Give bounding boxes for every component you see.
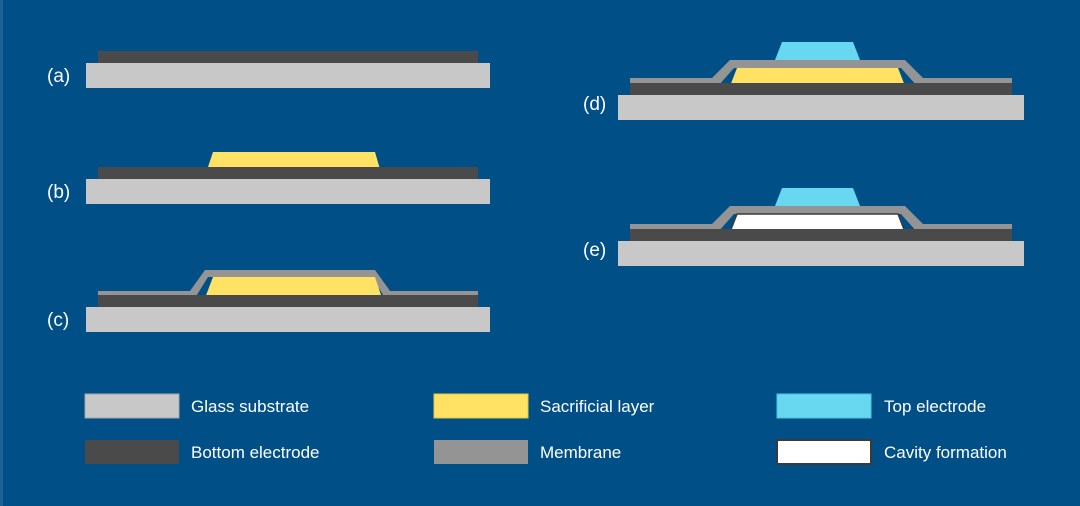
panel-a-bottom-electrode (98, 51, 478, 63)
panel-d-top-electrode (775, 42, 860, 60)
panel-c-sacrificial-layer (205, 277, 382, 298)
legend-swatch-top-electrode (777, 394, 871, 418)
legend-label-sacrificial-layer: Sacrificial layer (540, 397, 655, 416)
panel-b-label: (b) (47, 182, 70, 203)
panel-e-top-electrode (775, 188, 860, 206)
legend-swatch-glass-substrate (85, 394, 179, 418)
legend-item-top-electrode: Top electrode (777, 394, 986, 418)
legend-swatch-sacrificial-layer (434, 394, 528, 418)
legend-label-cavity-formation: Cavity formation (884, 443, 1007, 462)
panel-d: (d) (583, 42, 1024, 120)
panel-a-glass-substrate (86, 63, 490, 88)
panel-b-glass-substrate (86, 179, 490, 204)
panel-c: (c) (47, 270, 490, 332)
process-flow-diagram: (a) (b) (c) (d) (0, 0, 1080, 506)
legend-label-bottom-electrode: Bottom electrode (191, 443, 320, 462)
legend-swatch-membrane (434, 440, 528, 464)
legend-item-bottom-electrode: Bottom electrode (85, 440, 320, 464)
panel-d-label: (d) (583, 94, 606, 115)
panel-a-label: (a) (47, 66, 70, 87)
panel-c-label: (c) (47, 310, 69, 331)
legend-item-cavity-formation: Cavity formation (777, 440, 1007, 464)
legend-item-membrane: Membrane (434, 440, 621, 464)
panel-e-glass-substrate (618, 241, 1024, 266)
legend-swatch-cavity-formation (777, 440, 871, 464)
panel-e-label: (e) (583, 240, 606, 261)
legend-label-top-electrode: Top electrode (884, 397, 986, 416)
panel-b: (b) (47, 152, 490, 204)
panel-e-bottom-electrode (630, 229, 1012, 241)
legend-item-sacrificial-layer: Sacrificial layer (434, 394, 655, 418)
panel-d-glass-substrate (618, 95, 1024, 120)
panel-d-bottom-electrode (630, 83, 1012, 95)
panel-e: (e) (583, 188, 1024, 266)
legend: Glass substrate Bottom electrode Sacrifi… (85, 394, 1007, 464)
legend-label-membrane: Membrane (540, 443, 621, 462)
legend-swatch-bottom-electrode (85, 440, 179, 464)
legend-label-glass-substrate: Glass substrate (191, 397, 309, 416)
figure-root: (a) (b) (c) (d) (0, 0, 1080, 506)
panel-c-glass-substrate (86, 307, 490, 332)
panel-c-bottom-electrode (98, 295, 478, 307)
legend-item-glass-substrate: Glass substrate (85, 394, 309, 418)
panel-b-bottom-electrode (98, 167, 478, 179)
panel-a: (a) (47, 51, 490, 88)
